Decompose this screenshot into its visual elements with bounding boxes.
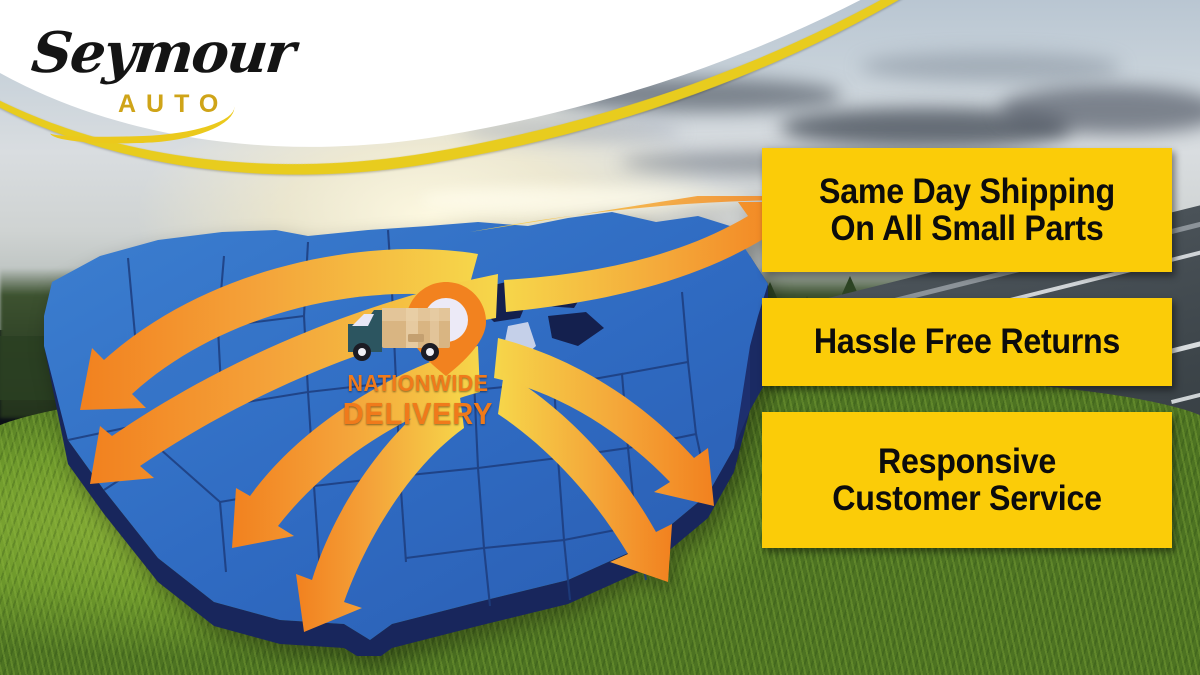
callout-same-day-shipping[interactable]: Same Day Shipping On All Small Parts [762,148,1172,272]
callout-1-line-2: On All Small Parts [778,210,1155,247]
callout-hassle-free-returns[interactable]: Hassle Free Returns [762,298,1172,386]
callout-2-line-1: Hassle Free Returns [778,323,1155,360]
brand-sub-name: AUTO [118,90,228,119]
nationwide-delivery-badge: NATIONWIDE DELIVERY [318,276,518,456]
delivery-truck-icon [348,308,450,361]
badge-line-1: NATIONWIDE [325,372,511,395]
callout-3-line-2: Customer Service [778,480,1155,517]
callout-responsive-customer-service[interactable]: Responsive Customer Service [762,412,1172,548]
brand-script-name: Seymour [29,20,297,86]
callout-boxes: Same Day Shipping On All Small Parts Has… [762,148,1172,548]
badge-icons [318,276,518,376]
brand-logo[interactable]: Seymour AUTO [26,18,256,128]
badge-text: NATIONWIDE DELIVERY [318,372,518,429]
promo-banner: Seymour AUTO [0,0,1200,675]
badge-line-2: DELIVERY [325,398,511,429]
callout-1-line-1: Same Day Shipping [778,173,1155,210]
callout-3-line-1: Responsive [778,443,1155,480]
